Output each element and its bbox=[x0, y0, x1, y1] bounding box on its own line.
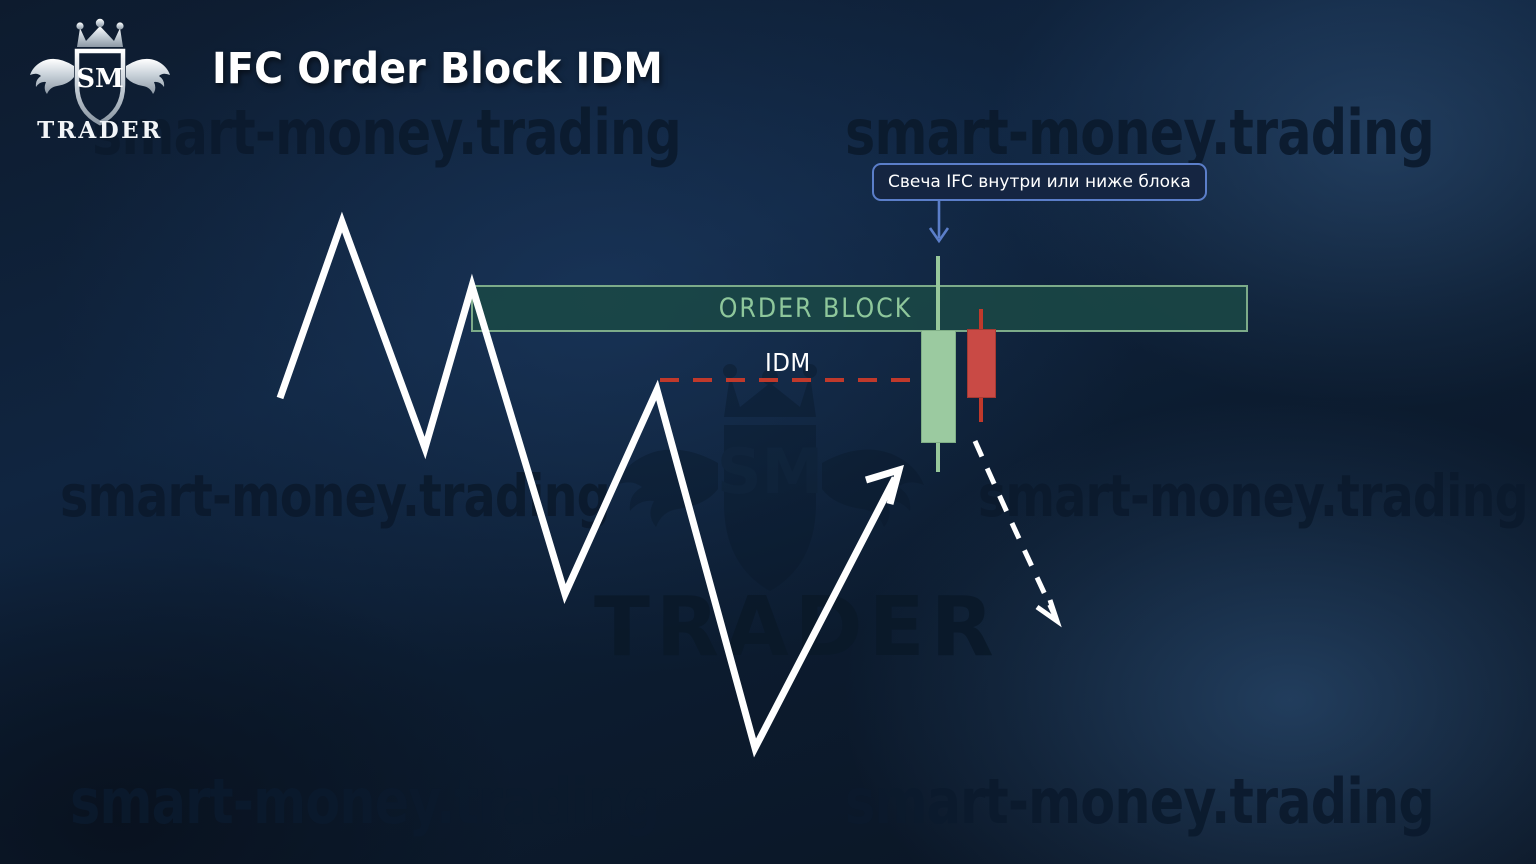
next-candle-bearish-body bbox=[967, 329, 996, 398]
watermark-wordmark: TRADER bbox=[594, 580, 1000, 675]
bearish-projection-arrowhead bbox=[1037, 600, 1057, 621]
watermark-text: smart-money.trading bbox=[70, 765, 659, 838]
watermark-text: smart-money.trading bbox=[845, 765, 1434, 838]
diagram-canvas: smart-money.trading smart-money.trading … bbox=[0, 0, 1536, 864]
watermark-text: smart-money.trading bbox=[92, 96, 681, 169]
ifc-candle-bullish-body bbox=[921, 330, 956, 443]
idm-label: IDM bbox=[765, 348, 811, 377]
ifc-callout-box: Свеча IFC внутри или ниже блока bbox=[872, 163, 1207, 201]
page-title: IFC Order Block IDM bbox=[212, 44, 663, 94]
watermark-text: smart-money.trading bbox=[60, 462, 610, 530]
order-block-label: ORDER BLOCK bbox=[475, 287, 1155, 330]
watermark-text: smart-money.trading bbox=[845, 96, 1434, 169]
watermark-text: smart-money.trading bbox=[978, 462, 1528, 530]
idm-dashed-line bbox=[660, 378, 922, 382]
svg-text:SM: SM bbox=[717, 435, 823, 508]
order-block-zone: ORDER BLOCK bbox=[471, 285, 1248, 332]
svg-text:TRADER: TRADER bbox=[37, 117, 163, 142]
shield-crown-bulls-logo: SM TRADER bbox=[24, 14, 176, 142]
down-arrow-icon bbox=[918, 200, 960, 246]
svg-text:SM: SM bbox=[76, 64, 124, 94]
